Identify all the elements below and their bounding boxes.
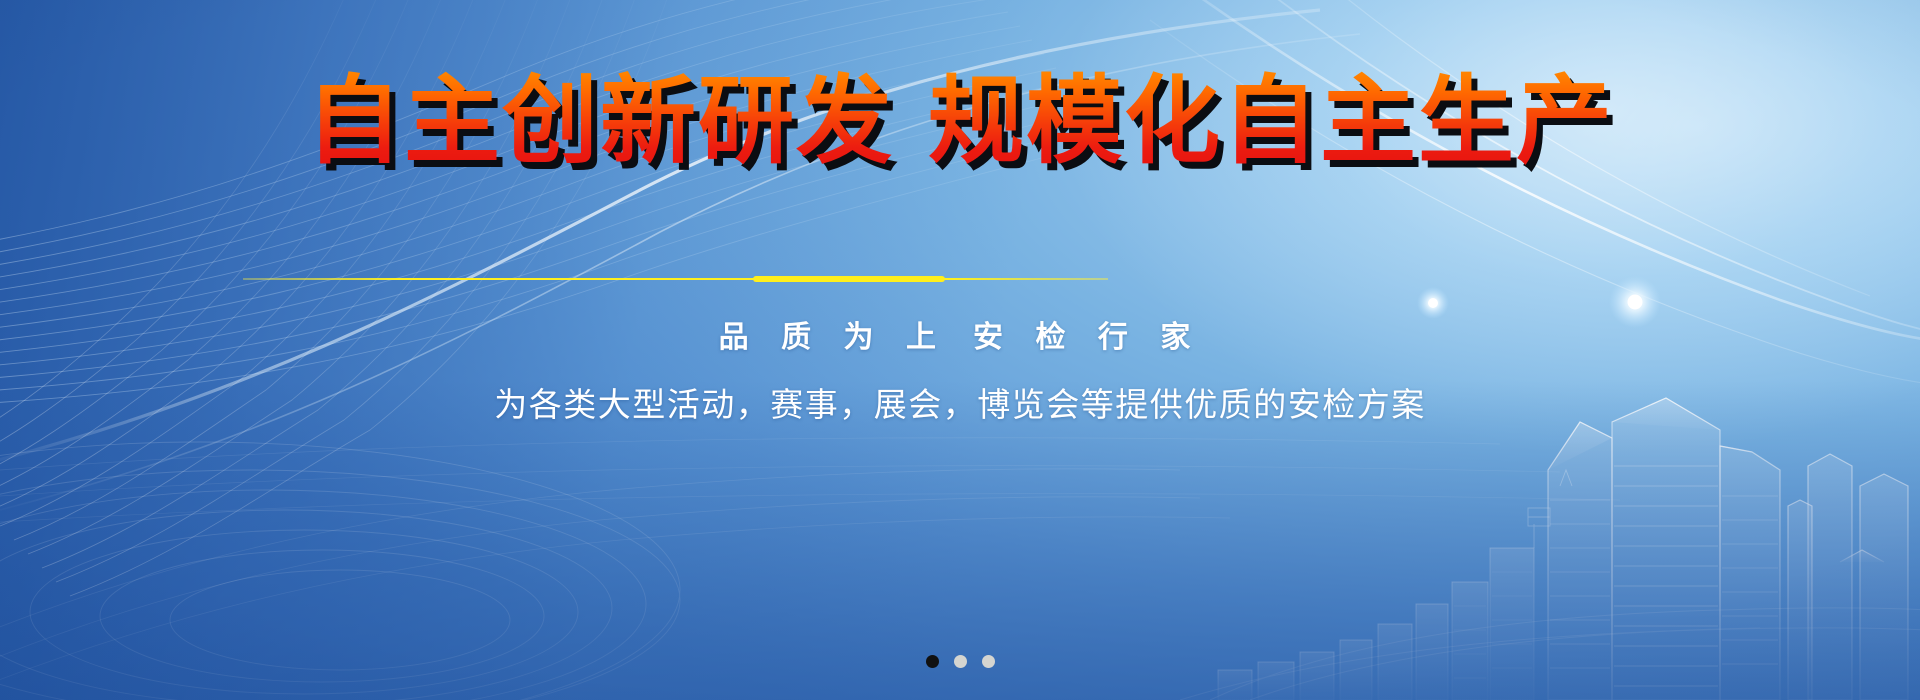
carousel-dot-1[interactable] xyxy=(926,655,939,668)
accent-divider xyxy=(243,276,1108,281)
subtitle-secondary: 为各类大型活动，赛事，展会，博览会等提供优质的安检方案 xyxy=(0,378,1920,426)
banner-headline: 自主创新研发规模化自主生产 xyxy=(306,68,1614,176)
subtitle-primary-segment-1: 品 质 为 上 xyxy=(719,320,947,355)
subtitle-container: 品 质 为 上安 检 行 家 为各类大型活动，赛事，展会，博览会等提供优质的安检… xyxy=(0,312,1920,426)
headline-part-2: 规模化自主生产 xyxy=(928,65,1614,177)
carousel-dot-3[interactable] xyxy=(982,655,995,668)
subtitle-primary: 品 质 为 上安 检 行 家 xyxy=(0,312,1920,356)
headline-part-1: 自主创新研发 xyxy=(306,65,894,177)
carousel-dots[interactable] xyxy=(0,655,1920,668)
hero-banner: 自主创新研发规模化自主生产 品 质 为 上安 检 行 家 为各类大型活动，赛事，… xyxy=(0,0,1920,700)
carousel-dot-2[interactable] xyxy=(954,655,967,668)
divider-thin-line xyxy=(243,278,1108,280)
headline-container: 自主创新研发规模化自主生产 xyxy=(0,68,1920,176)
subtitle-primary-segment-2: 安 检 行 家 xyxy=(973,320,1201,355)
divider-thick-segment xyxy=(753,276,945,282)
